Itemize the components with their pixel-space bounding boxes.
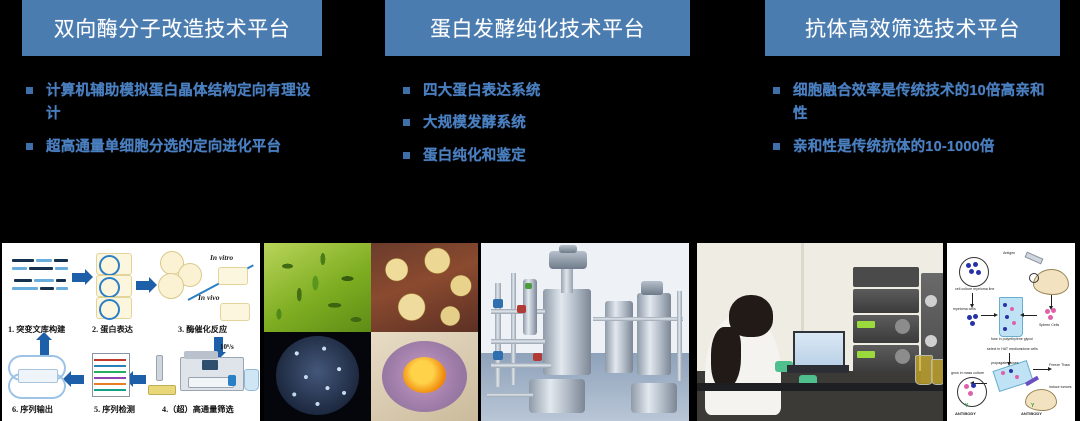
bullet-label: 计算机辅助模拟蛋白晶体结构定向有理设计 xyxy=(46,80,311,127)
bullet-label: 蛋白纯化和鉴定 xyxy=(423,145,526,168)
column-header-banner-1: 双向酶分子改造技术平台 xyxy=(22,0,322,56)
bullet-square-icon xyxy=(403,87,410,94)
workflow-step-label: 6. 序列输出 xyxy=(12,403,53,415)
bullet-square-icon xyxy=(773,143,780,150)
workflow-step-label: 2. 蛋白表达 xyxy=(92,323,133,335)
arrow-left-icon xyxy=(1023,315,1037,316)
bullet-square-icon xyxy=(773,87,780,94)
arrow-left-icon xyxy=(132,375,146,384)
list-item: 蛋白纯化和鉴定 xyxy=(403,145,663,168)
micrograph-insect-cells xyxy=(264,332,371,421)
list-item: 大规模发酵系统 xyxy=(403,112,663,135)
bioreactor-photo xyxy=(481,243,689,421)
annotation-throughput: 10⁶/s xyxy=(220,343,234,351)
bullet-square-icon xyxy=(26,143,33,150)
column-header-banner-2: 蛋白发酵纯化技术平台 xyxy=(385,0,690,56)
figure-directed-evolution-workflow: In vitro In vivo 1. 突变文库构建 2. 蛋白表达 3. 酶催… xyxy=(2,243,260,421)
list-item: 计算机辅助模拟蛋白晶体结构定向有理设计 xyxy=(26,80,311,127)
bullet-square-icon xyxy=(403,119,410,126)
bullet-square-icon xyxy=(403,152,410,159)
bullet-label: 超高通量单细胞分选的定向进化平台 xyxy=(46,136,281,159)
annotation-antibody: ANTIBODY xyxy=(1021,411,1042,416)
bullet-label: 大规模发酵系统 xyxy=(423,112,526,135)
workflow-step-label: 5. 序列检测 xyxy=(94,403,135,415)
list-item: 四大蛋白表达系统 xyxy=(403,80,663,103)
arrow-up-icon xyxy=(40,339,49,355)
image-strip: In vitro In vivo 1. 突变文库构建 2. 蛋白表达 3. 酶催… xyxy=(0,243,1080,421)
workflow-step-label: 3. 酶催化反应 xyxy=(178,323,227,335)
arrow-down-icon xyxy=(972,293,973,305)
annotation-in-vitro: In vitro xyxy=(210,253,233,262)
list-item: 超高通量单细胞分选的定向进化平台 xyxy=(26,136,311,159)
arrow-left-icon xyxy=(70,375,84,384)
column-antibody-screening: 抗体高效筛选技术平台 细胞融合效率是传统技术的10倍高亲和性 亲和性是传统抗体的… xyxy=(765,0,1060,175)
purification-photo xyxy=(697,243,943,421)
workflow-step-label: 4.（超）高通量筛选 xyxy=(162,403,234,415)
micrograph-grid xyxy=(264,243,478,421)
column-protein-fermentation: 蛋白发酵纯化技术平台 四大蛋白表达系统 大规模发酵系统 蛋白纯化和鉴定 xyxy=(385,0,690,184)
bullet-label: 四大蛋白表达系统 xyxy=(423,80,541,103)
annotation-antibody: ANTIBODY xyxy=(955,411,976,416)
arrow-right-icon xyxy=(981,315,995,316)
workflow-diagram: In vitro In vivo 1. 突变文库构建 2. 蛋白表达 3. 酶催… xyxy=(2,243,260,421)
bullet-square-icon xyxy=(26,87,33,94)
arrow-right-icon xyxy=(136,281,150,290)
column-header-banner-3: 抗体高效筛选技术平台 xyxy=(765,0,1060,56)
arrow-right-icon xyxy=(72,273,86,282)
arrow-right-icon xyxy=(1033,369,1049,370)
micrograph-mammalian-cell xyxy=(371,332,478,421)
figure-hybridoma-workflow: cell culture myeloma line myeloma cells … xyxy=(947,243,1075,421)
column-enzyme-engineering: 双向酶分子改造技术平台 计算机辅助模拟蛋白晶体结构定向有理设计 超高通量单细胞分… xyxy=(22,0,322,175)
arrow-down-icon xyxy=(1051,295,1052,307)
bullet-label: 细胞融合效率是传统技术的10倍高亲和性 xyxy=(793,80,1051,127)
micrograph-bacteria xyxy=(264,243,371,332)
bullet-label: 亲和性是传统抗体的10-1000倍 xyxy=(793,136,995,159)
figure-protein-purification-hplc xyxy=(697,243,943,421)
slide-canvas: 双向酶分子改造技术平台 计算机辅助模拟蛋白晶体结构定向有理设计 超高通量单细胞分… xyxy=(0,0,1080,421)
micrograph-yeast xyxy=(371,243,478,332)
annotation-antigen: Antigen xyxy=(1003,251,1015,255)
list-item: 亲和性是传统抗体的10-1000倍 xyxy=(773,136,1051,159)
bullet-list-3: 细胞融合效率是传统技术的10倍高亲和性 亲和性是传统抗体的10-1000倍 xyxy=(773,80,1051,159)
hybridoma-diagram: cell culture myeloma line myeloma cells … xyxy=(947,243,1075,421)
bullet-list-2: 四大蛋白表达系统 大规模发酵系统 蛋白纯化和鉴定 xyxy=(403,80,663,168)
annotation-in-vivo: In vivo xyxy=(198,293,219,302)
annotation-spleen-cells: Spleen Cells xyxy=(1039,323,1059,327)
figure-expression-host-micrographs xyxy=(264,243,478,421)
figure-fermentation-facility xyxy=(481,243,689,421)
list-item: 细胞融合效率是传统技术的10倍高亲和性 xyxy=(773,80,1051,127)
bullet-list-1: 计算机辅助模拟蛋白晶体结构定向有理设计 超高通量单细胞分选的定向进化平台 xyxy=(26,80,311,159)
